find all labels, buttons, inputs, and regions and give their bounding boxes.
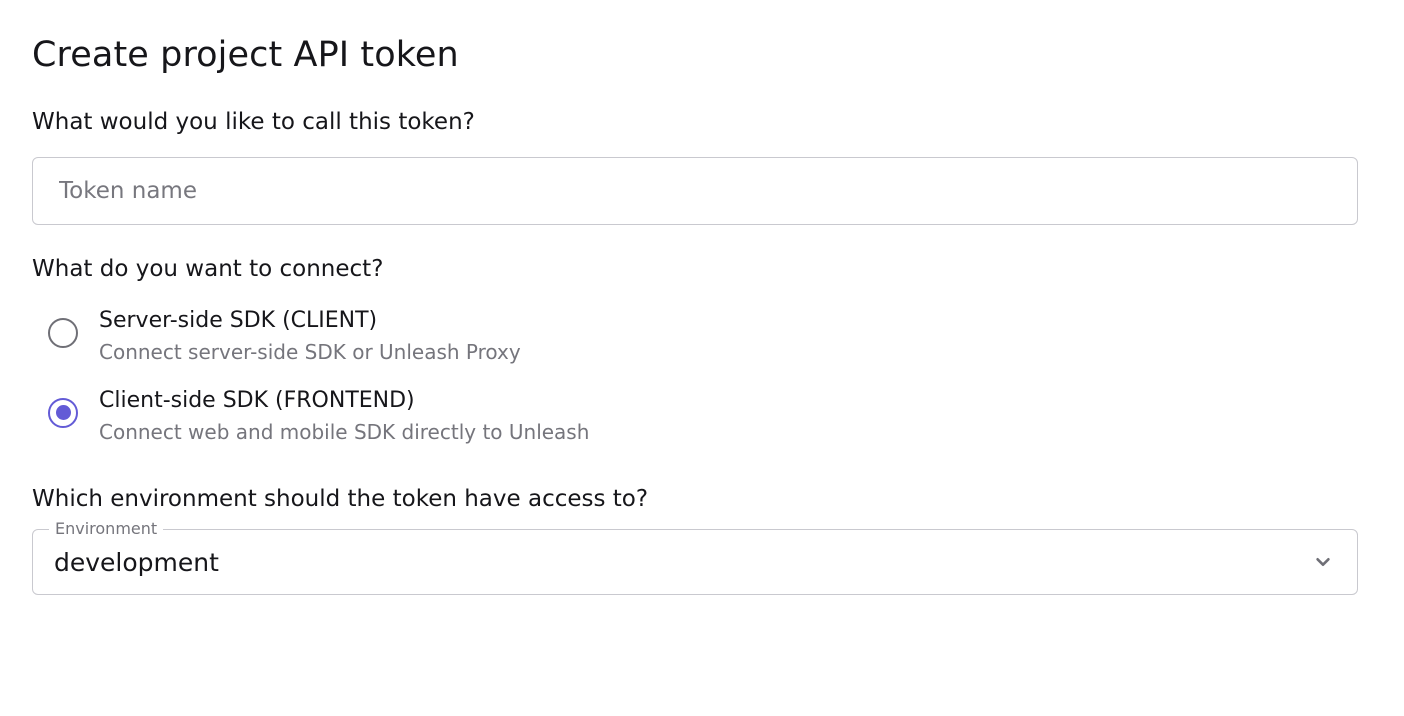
- radio-option-client-side-sdk[interactable]: Client-side SDK (FRONTEND) Connect web a…: [32, 381, 1372, 450]
- token-name-field-wrapper[interactable]: [32, 157, 1358, 225]
- environment-select[interactable]: Environment development: [32, 529, 1358, 595]
- connect-type-question-label: What do you want to connect?: [32, 255, 1372, 285]
- radio-option-text: Server-side SDK (CLIENT) Connect server-…: [99, 306, 521, 365]
- radio-option-description: Connect web and mobile SDK directly to U…: [99, 419, 589, 445]
- radio-option-server-side-sdk[interactable]: Server-side SDK (CLIENT) Connect server-…: [32, 301, 1372, 370]
- token-name-question-label: What would you like to call this token?: [32, 108, 1372, 138]
- radio-option-description: Connect server-side SDK or Unleash Proxy: [99, 339, 521, 365]
- connect-type-radio-group: Server-side SDK (CLIENT) Connect server-…: [32, 301, 1372, 451]
- token-name-input[interactable]: [59, 178, 1331, 204]
- radio-selected-icon[interactable]: [48, 398, 78, 428]
- environment-question-label: Which environment should the token have …: [32, 485, 1372, 515]
- create-api-token-form: Create project API token What would you …: [0, 0, 1404, 716]
- radio-unselected-icon[interactable]: [48, 318, 78, 348]
- radio-option-label: Client-side SDK (FRONTEND): [99, 388, 415, 413]
- radio-option-label: Server-side SDK (CLIENT): [99, 308, 377, 333]
- environment-select-click-target[interactable]: [32, 529, 1358, 595]
- page-title: Create project API token: [32, 0, 1372, 78]
- radio-option-text: Client-side SDK (FRONTEND) Connect web a…: [99, 386, 589, 445]
